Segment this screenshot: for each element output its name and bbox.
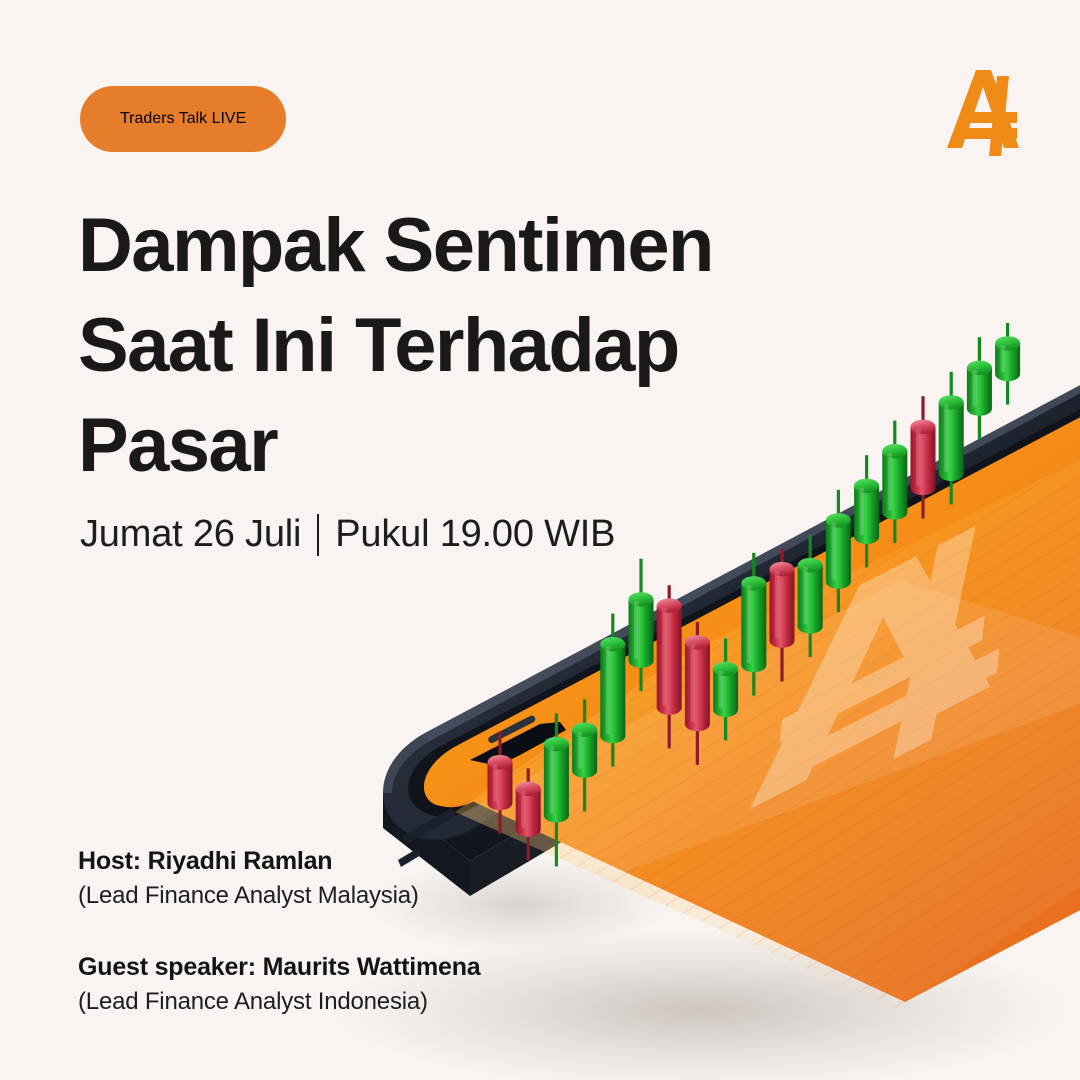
- guest-credit: Guest speaker: Maurits Wattimena (Lead F…: [78, 950, 638, 1020]
- candle-15-bullish: [882, 421, 907, 543]
- candle-8-bearish: [685, 622, 710, 765]
- event-time: Pukul 19.00 WIB: [335, 513, 615, 556]
- host-name: Host: Riyadhi Ramlan: [78, 844, 638, 878]
- candle-11-bearish: [770, 549, 795, 682]
- candle-19-bullish: [995, 323, 1020, 405]
- candle-12-bullish: [798, 535, 823, 657]
- badge-label: Traders Talk LIVE: [120, 110, 246, 128]
- candle-13-bullish: [826, 490, 851, 612]
- headline-line-3: Pasar: [78, 396, 838, 496]
- brand-a-logo: [935, 60, 1035, 160]
- guest-role: (Lead Finance Analyst Indonesia): [78, 984, 638, 1020]
- candle-9-bullish: [713, 638, 738, 740]
- candle-4-bullish: [572, 699, 597, 811]
- candle-18-bullish: [967, 337, 992, 439]
- candle-6-bullish: [629, 559, 654, 692]
- traders-talk-live-badge[interactable]: Traders Talk LIVE: [80, 86, 286, 152]
- candle-5-bullish: [600, 614, 625, 767]
- headline-line-2: Saat Ini Terhadap: [78, 296, 838, 396]
- event-datetime: Jumat 26 Juli Pukul 19.00 WIB: [80, 513, 615, 556]
- promo-poster: Traders Talk LIVE Dampak Sentimen Saat I…: [0, 0, 1080, 1080]
- candle-10-bullish: [741, 553, 766, 696]
- candle-16-bearish: [911, 396, 936, 518]
- candle-1-bearish: [488, 732, 513, 834]
- host-credit: Host: Riyadhi Ramlan (Lead Finance Analy…: [78, 844, 638, 914]
- headline-line-1: Dampak Sentimen: [78, 196, 838, 296]
- host-role: (Lead Finance Analyst Malaysia): [78, 878, 638, 914]
- candle-14-bullish: [854, 455, 879, 567]
- speaker-credits: Host: Riyadhi Ramlan (Lead Finance Analy…: [78, 844, 638, 1020]
- dateline-separator: [317, 514, 319, 556]
- event-date: Jumat 26 Juli: [80, 513, 301, 556]
- candle-7-bearish: [657, 585, 682, 748]
- guest-name: Guest speaker: Maurits Wattimena: [78, 950, 638, 984]
- candle-17-bullish: [939, 372, 964, 505]
- page-title: Dampak Sentimen Saat Ini Terhadap Pasar: [78, 196, 838, 496]
